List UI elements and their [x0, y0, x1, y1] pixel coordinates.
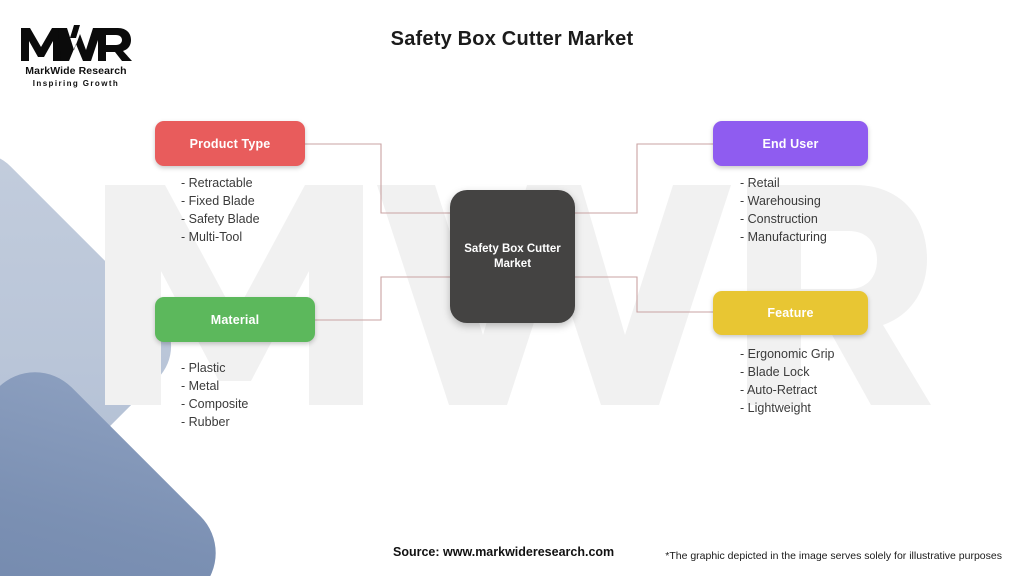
category-box-feature[interactable]: Feature: [713, 291, 868, 335]
category-label-material: Material: [211, 313, 259, 327]
category-box-end-user[interactable]: End User: [713, 121, 868, 166]
category-box-product-type[interactable]: Product Type: [155, 121, 305, 166]
list-item: - Retail: [740, 174, 827, 192]
category-label-feature: Feature: [767, 306, 813, 320]
list-item: - Auto-Retract: [740, 381, 834, 399]
list-item: - Construction: [740, 210, 827, 228]
connector-feature: [573, 277, 713, 312]
footer-disclaimer: *The graphic depicted in the image serve…: [665, 550, 1002, 562]
footer-source[interactable]: Source: www.markwideresearch.com: [393, 545, 614, 559]
list-item: - Warehousing: [740, 192, 827, 210]
category-list-material: - Plastic - Metal - Composite - Rubber: [181, 359, 248, 431]
category-list-feature: - Ergonomic Grip - Blade Lock - Auto-Ret…: [740, 345, 834, 417]
list-item: - Ergonomic Grip: [740, 345, 834, 363]
list-item: - Fixed Blade: [181, 192, 260, 210]
category-label-product-type: Product Type: [190, 137, 271, 151]
list-item: - Retractable: [181, 174, 260, 192]
category-box-material[interactable]: Material: [155, 297, 315, 342]
connector-end-user: [573, 144, 713, 213]
connector-material: [315, 277, 452, 320]
list-item: - Blade Lock: [740, 363, 834, 381]
list-item: - Lightweight: [740, 399, 834, 417]
connector-product-type: [305, 144, 452, 213]
list-item: - Plastic: [181, 359, 248, 377]
category-list-end-user: - Retail - Warehousing - Construction - …: [740, 174, 827, 246]
list-item: - Rubber: [181, 413, 248, 431]
list-item: - Metal: [181, 377, 248, 395]
center-node[interactable]: Safety Box Cutter Market: [450, 190, 575, 323]
list-item: - Safety Blade: [181, 210, 260, 228]
list-item: - Composite: [181, 395, 248, 413]
category-label-end-user: End User: [762, 137, 818, 151]
category-list-product-type: - Retractable - Fixed Blade - Safety Bla…: [181, 174, 260, 246]
list-item: - Manufacturing: [740, 228, 827, 246]
list-item: - Multi-Tool: [181, 228, 260, 246]
center-node-label: Safety Box Cutter Market: [450, 242, 575, 272]
